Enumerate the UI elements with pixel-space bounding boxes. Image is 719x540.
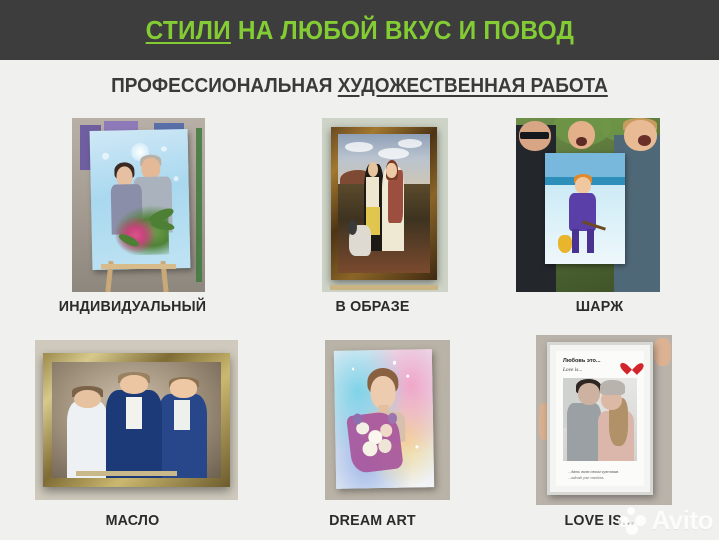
gallery-caption-individual: ИНДИВИДУАЛЬНЫЙ [7,298,259,315]
gallery-caption-sharzh: ШАРЖ [486,298,713,315]
page-title-underlined: СТИЛИ [145,15,230,45]
gallery-item-individual[interactable]: ИНДИВИДУАЛЬНЫЙ [0,112,265,322]
promo-page: СТИЛИ НА ЛЮБОЙ ВКУС И ПОВОД ПРОФЕССИОНАЛ… [0,0,719,540]
hand-icon [654,338,670,365]
thumbnail-sharzh[interactable] [516,118,660,292]
gallery-item-loveis[interactable]: Любовь это... Love is... [480,327,719,540]
thumbnail-maslo[interactable] [35,340,238,500]
subtitle-prefix: ПРОФЕССИОНАЛЬНАЯ [111,75,338,97]
thumbnail-vobraze[interactable] [322,118,448,292]
gallery-item-sharzh[interactable]: ШАРЖ [480,112,719,322]
gallery-caption-loveis: LOVE IS... [486,512,713,529]
gallery-item-dreamart[interactable]: DREAM ART [265,327,480,540]
heart-icon [625,358,638,373]
gallery-caption-vobraze: В ОБРАЗЕ [270,298,474,315]
subtitle: ПРОФЕССИОНАЛЬНАЯ ХУДОЖЕСТВЕННАЯ РАБОТА [111,75,608,98]
love-poster-caption-ru: ...дать волю своим чувствам. [568,470,619,474]
love-poster-caption-en: ...unleash your emotions. [568,476,604,480]
gallery-item-maslo[interactable]: МАСЛО [0,327,265,540]
page-title: СТИЛИ НА ЛЮБОЙ ВКУС И ПОВОД [145,15,573,46]
header-band: СТИЛИ НА ЛЮБОЙ ВКУС И ПОВОД [0,0,719,60]
page-title-rest: НА ЛЮБОЙ ВКУС И ПОВОД [230,15,573,45]
subtitle-band: ПРОФЕССИОНАЛЬНАЯ ХУДОЖЕСТВЕННАЯ РАБОТА [0,60,719,112]
gallery-caption-maslo: МАСЛО [7,512,259,529]
love-poster-title-ru: Любовь это... [563,358,601,364]
love-poster-title-en: Love is... [563,367,582,373]
gallery-caption-dreamart: DREAM ART [270,512,474,529]
thumbnail-loveis[interactable]: Любовь это... Love is... [536,335,672,505]
gallery-grid: ИНДИВИДУАЛЬНЫЙ [0,112,719,540]
thumbnail-dreamart[interactable] [325,340,450,500]
subtitle-underlined: ХУДОЖЕСТВЕННАЯ РАБОТА [338,75,608,97]
gallery-item-vobraze[interactable]: В ОБРАЗЕ [265,112,480,322]
thumbnail-individual[interactable] [72,118,205,292]
